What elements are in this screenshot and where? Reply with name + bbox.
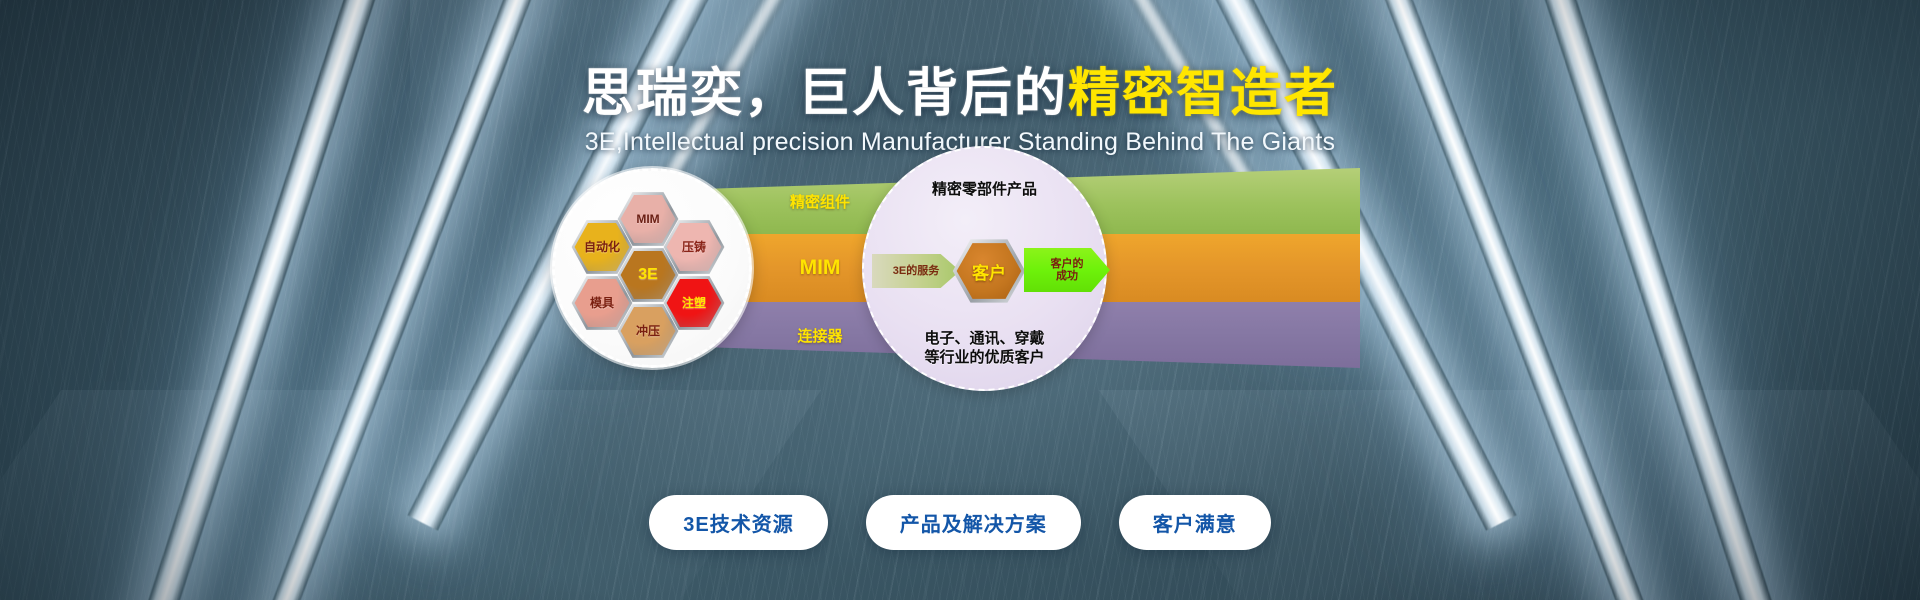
customer-circle: 精密零部件产品 3E的服务 客户 客户的 成功 电子、通讯、穿戴 等行业	[862, 146, 1107, 391]
success-arrow-line1: 客户的	[1051, 258, 1084, 270]
headline-white-text: 思瑞奕，巨人背后的	[582, 65, 1068, 123]
band-label-mim: MIM	[800, 256, 841, 280]
hexagon-label: MIM	[636, 213, 659, 226]
hexagon-cluster: MIM自动化压铸3E模具注塑冲压	[555, 171, 755, 371]
band-label-precision-components: 精密组件	[790, 191, 850, 212]
cta-button-customer-satisfaction[interactable]: 客户满意	[1119, 495, 1271, 550]
headline-yellow-text: 精密智造者	[1068, 65, 1338, 123]
capability-circle: MIM自动化压铸3E模具注塑冲压	[552, 168, 752, 368]
customer-hexagon: 客户	[952, 238, 1026, 304]
hero-banner: 思瑞奕，巨人背后的精密智造者 3E,Intellectual precision…	[0, 0, 1920, 600]
service-arrow: 3E的服务	[872, 254, 960, 288]
customer-hexagon-label: 客户	[972, 259, 1006, 284]
hexagon-label: 3E	[638, 267, 658, 284]
hexagon-label: 注塑	[682, 297, 706, 310]
business-model-diagram: 精密组件 MIM 连接器 精密零部件产品 3E的服务 客户	[560, 168, 1360, 368]
customer-footer-line1: 电子、通讯、穿戴	[864, 329, 1105, 348]
hexagon-label: 模具	[590, 297, 614, 310]
service-arrow-label: 3E的服务	[893, 265, 939, 277]
customer-footer-line2: 等行业的优质客户	[864, 348, 1105, 367]
band-label-connector: 连接器	[797, 325, 842, 346]
success-arrow-label: 客户的 成功	[1051, 258, 1084, 283]
hexagon-label: 自动化	[584, 241, 620, 254]
cta-button-products-solutions[interactable]: 产品及解决方案	[866, 495, 1081, 550]
hexagon-label: 冲压	[636, 325, 660, 338]
success-arrow: 客户的 成功	[1024, 248, 1110, 292]
customer-circle-title: 精密零部件产品	[864, 178, 1105, 199]
cta-button-row: 3E技术资源 产品及解决方案 客户满意	[0, 495, 1920, 550]
hexagon-label: 压铸	[682, 241, 706, 254]
success-arrow-line2: 成功	[1056, 270, 1078, 282]
customer-circle-footer: 电子、通讯、穿戴 等行业的优质客户	[864, 329, 1105, 367]
headline: 思瑞奕，巨人背后的精密智造者	[0, 68, 1920, 120]
cta-button-tech-resources[interactable]: 3E技术资源	[649, 495, 827, 550]
